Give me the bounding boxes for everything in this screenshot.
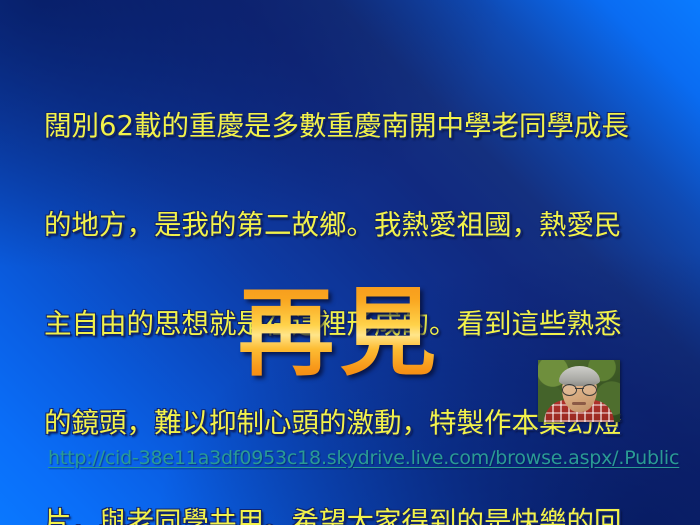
skydrive-url-link[interactable]: http://cid-38e11a3df0953c18.skydrive.liv… (48, 446, 679, 470)
portrait-lens-left (562, 384, 577, 396)
presentation-slide: 闊別62載的重慶是多數重慶南開中學老同學成長 的地方，是我的第二故鄉。我熱愛祖國… (0, 0, 700, 525)
portrait-glasses-icon (562, 384, 597, 394)
portrait-photo (538, 360, 620, 422)
farewell-wordart: 再見 (238, 283, 442, 383)
portrait-mouth (572, 402, 586, 405)
body-line-1: 闊別62載的重慶是多數重慶南開中學老同學成長 (44, 110, 662, 143)
portrait-lens-right (582, 384, 597, 396)
body-line-5: 片，與老同學共用。希望大家得到的是快樂的回 (44, 506, 662, 525)
body-line-2: 的地方，是我的第二故鄉。我熱愛祖國，熱愛民 (44, 209, 662, 242)
